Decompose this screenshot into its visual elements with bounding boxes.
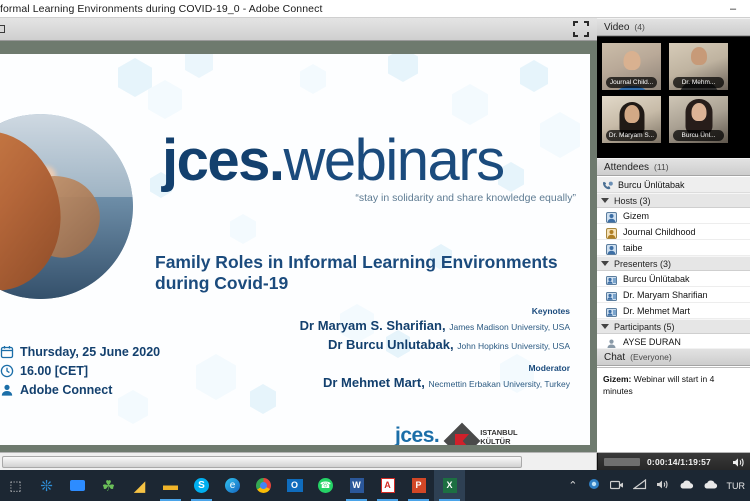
slide-title: Family Roles in Informal Learning Enviro… [155, 252, 575, 294]
video-pod: Video (4) Journal Child... Dr. Mehm... D… [597, 18, 750, 158]
taskbar-whatsapp[interactable]: ☎ [310, 470, 341, 501]
adobe-connect-app-body: jces.webinars “stay in solidarity and sh… [0, 18, 750, 470]
taskbar-zoom[interactable] [62, 470, 93, 501]
video-tile-label: Dr. Maryam S... [606, 130, 657, 141]
scrollbar-thumb[interactable] [2, 456, 522, 468]
attendees-pod-title: Attendees [604, 162, 649, 173]
attendee-row[interactable]: Journal Childhood [597, 224, 750, 240]
iku-line-2: KÜLTÜR [480, 437, 525, 446]
chat-message: Gizem: Webinar will start in 4 minutes [603, 373, 744, 397]
video-pod-header: Video (4) [597, 18, 750, 36]
slide-canvas: jces.webinars “stay in solidarity and sh… [0, 54, 590, 445]
logo-tagline: “stay in solidarity and share knowledge … [162, 192, 582, 204]
meta-text: Adobe Connect [20, 383, 112, 397]
taskbar-google-chrome[interactable] [248, 470, 279, 501]
tray-chevron-up-icon[interactable]: ⌃ [568, 479, 577, 492]
chevron-down-icon [601, 198, 609, 203]
taskbar-outlook[interactable]: O [279, 470, 310, 501]
video-pod-count: (4) [634, 22, 644, 32]
presenter-icon [606, 273, 617, 284]
attendee-self-row[interactable]: Burcu Ünlütabak [597, 177, 750, 193]
cloud-icon-1[interactable] [679, 477, 694, 495]
iku-text: ISTANBUL KÜLTÜR UNIVERSITY [480, 428, 525, 446]
attendee-row[interactable]: Dr. Maryam Sharifian [597, 287, 750, 303]
chat-author: Gizem: [603, 374, 631, 384]
pod-menu-icon[interactable] [0, 22, 10, 36]
minimize-button[interactable]: – [716, 0, 750, 18]
taskbar-file-explorer[interactable]: ▬ [155, 470, 186, 501]
video-tile[interactable]: Burcu Ünl... [668, 95, 729, 144]
horizontal-scrollbar[interactable] [0, 453, 597, 471]
host-icon [606, 242, 617, 253]
istanbul-kultur-university-logo: ISTANBUL KÜLTÜR UNIVERSITY [449, 428, 525, 446]
moderator-affiliation: Necmettin Erbakan University, Turkey [428, 379, 570, 389]
meeting-timer: 0:00:14/1:19:57 [647, 457, 711, 467]
logo-dot: . [269, 128, 284, 193]
logo-jces: jces [162, 128, 269, 193]
meta-row-platform: Adobe Connect [0, 383, 220, 397]
attendee-group-participants[interactable]: Participants (5) [597, 319, 750, 334]
attendees-list[interactable]: Burcu Ünlütabak Hosts (3) Gizem Jo [597, 177, 750, 348]
camera-icon[interactable] [610, 477, 624, 495]
video-tile-label: Dr. Mehm... [673, 77, 724, 88]
iku-line-1: ISTANBUL [480, 428, 525, 437]
system-tray: ⌃ TUR [568, 477, 750, 495]
attendee-self-name: Burcu Ünlütabak [618, 180, 685, 190]
hands-photo [0, 114, 133, 299]
attendee-group-presenters[interactable]: Presenters (3) [597, 256, 750, 271]
share-pod-toolbar [0, 18, 597, 41]
attendees-pod-count: (11) [654, 162, 669, 172]
presenter-icon [606, 289, 617, 300]
logo-wordmark: jces.webinars [162, 132, 582, 190]
meta-text: 16.00 [CET] [20, 364, 88, 378]
phone-user-icon [602, 179, 613, 190]
speaker-affiliation: John Hopkins University, USA [457, 341, 570, 351]
slide-footer-logos: jces. Journal of Childhood, Education & … [395, 426, 525, 445]
attendee-name: Dr. Maryam Sharifian [623, 290, 708, 300]
taskbar-acrobat-reader[interactable]: A [372, 470, 403, 501]
window-title-bar: nformal Learning Environments during COV… [0, 0, 750, 18]
window-controls: – [716, 0, 750, 17]
jces-webinars-logo: jces.webinars “stay in solidarity and sh… [162, 132, 582, 204]
video-tile[interactable]: Dr. Mehm... [668, 42, 729, 91]
attendee-name: AYSE DURAN [623, 337, 681, 347]
speaker-name: Dr Burcu Unlutabak, [328, 337, 454, 352]
taskbar-task-view[interactable]: ⬚ [0, 470, 31, 501]
video-tile-label: Journal Child... [606, 77, 657, 88]
host-icon [606, 210, 617, 221]
group-label: Presenters (3) [614, 259, 671, 269]
meta-text: Thursday, 25 June 2020 [20, 345, 160, 359]
chat-pod-scope: (Everyone) [630, 352, 672, 362]
network-icon[interactable] [633, 477, 647, 495]
attendees-pod: Attendees (11) Burcu Ünlütabak Hosts (3) [597, 158, 750, 348]
iku-diamond-icon [444, 423, 481, 445]
tray-language[interactable]: TUR [727, 481, 746, 491]
attendee-name: Gizem [623, 211, 649, 221]
bottom-status-strip: 0:00:14/1:19:57 [0, 452, 750, 470]
share-pod-stage: jces.webinars “stay in solidarity and sh… [0, 41, 597, 470]
group-label: Participants (5) [614, 322, 675, 332]
taskbar-plant-app[interactable]: ☘ [93, 470, 124, 501]
speakers-block: Keynotes Dr Maryam S. Sharifian, James M… [240, 306, 570, 393]
taskbar-adobe-connect[interactable]: ❊ [31, 470, 62, 501]
speaker-row: Dr Burcu Unlutabak, John Hopkins Univers… [240, 336, 570, 355]
video-tile[interactable]: Dr. Maryam S... [601, 95, 662, 144]
attendee-name: Journal Childhood [623, 227, 696, 237]
chat-pod-title: Chat [604, 352, 625, 363]
taskbar-microsoft-edge[interactable]: e [217, 470, 248, 501]
window-title: nformal Learning Environments during COV… [0, 3, 322, 15]
meeting-timer-bar: 0:00:14/1:19:57 [597, 453, 750, 471]
share-pod: jces.webinars “stay in solidarity and sh… [0, 18, 597, 470]
speaker-affiliation: James Madison University, USA [449, 322, 570, 332]
chevron-down-icon [601, 324, 609, 329]
chat-pod-header: Chat (Everyone) [597, 348, 750, 366]
taskbar-word[interactable]: W [341, 470, 372, 501]
attendee-row[interactable]: taibe [597, 240, 750, 256]
jces-journal-logo: jces. Journal of Childhood, Education & … [395, 426, 439, 445]
meta-row-date: Thursday, 25 June 2020 [0, 345, 220, 359]
host-icon-highlight [606, 226, 617, 237]
speaker-row: Dr Maryam S. Sharifian, James Madison Un… [240, 317, 570, 336]
attendees-pod-header: Attendees (11) [597, 158, 750, 176]
video-pod-title: Video [604, 22, 629, 33]
attendee-name: Burcu Ünlütabak [623, 274, 690, 284]
person-icon [0, 383, 14, 397]
taskbar-powerpoint[interactable]: P [403, 470, 434, 501]
attendee-row[interactable]: Dr. Mehmet Mart [597, 303, 750, 319]
taskbar-skype[interactable]: S [186, 470, 217, 501]
video-grid: Journal Child... Dr. Mehm... Dr. Maryam … [597, 37, 750, 158]
playback-progress-bar[interactable] [604, 458, 640, 466]
attendee-group-hosts[interactable]: Hosts (3) [597, 193, 750, 208]
attendee-name: Dr. Mehmet Mart [623, 306, 690, 316]
fullscreen-icon[interactable] [573, 21, 589, 37]
moderator-label: Moderator [240, 363, 570, 373]
jces-mark: jces. [395, 426, 439, 445]
clock-icon [0, 364, 14, 378]
calendar-icon [0, 345, 14, 359]
windows-taskbar: ⬚ ❊ ☘ ◢ ▬ S e O ☎ W A P X ⌃ TUR [0, 470, 750, 501]
volume-icon[interactable] [656, 477, 670, 495]
onedrive-blue-icon[interactable] [587, 477, 601, 495]
attendee-row[interactable]: AYSE DURAN [597, 334, 750, 348]
keynotes-label: Keynotes [240, 306, 570, 316]
group-label: Hosts (3) [614, 196, 651, 206]
right-pods-column: Video (4) Journal Child... Dr. Mehm... D… [597, 18, 750, 470]
attendee-name: taibe [623, 243, 643, 253]
taskbar-file-explorer-yellow[interactable]: ◢ [124, 470, 155, 501]
moderator-row: Dr Mehmet Mart, Necmettin Erbakan Univer… [240, 374, 570, 393]
event-meta: Thursday, 25 June 2020 16.00 [CET] [0, 345, 220, 402]
taskbar-excel[interactable]: X [434, 470, 465, 501]
meta-row-time: 16.00 [CET] [0, 364, 220, 378]
attendee-row[interactable]: Gizem [597, 208, 750, 224]
moderator-name: Dr Mehmet Mart, [323, 375, 425, 390]
cloud-icon-2[interactable] [703, 477, 718, 495]
presenter-icon [606, 305, 617, 316]
logo-webinars: webinars [284, 128, 504, 193]
video-tile-label: Burcu Ünl... [673, 130, 724, 141]
speaker-icon[interactable] [732, 457, 745, 468]
presentation-slide[interactable]: jces.webinars “stay in solidarity and sh… [0, 54, 590, 445]
attendee-row[interactable]: Burcu Ünlütabak [597, 271, 750, 287]
chevron-down-icon [601, 261, 609, 266]
video-tile[interactable]: Journal Child... [601, 42, 662, 91]
participant-icon [606, 336, 617, 347]
speaker-name: Dr Maryam S. Sharifian, [300, 318, 446, 333]
